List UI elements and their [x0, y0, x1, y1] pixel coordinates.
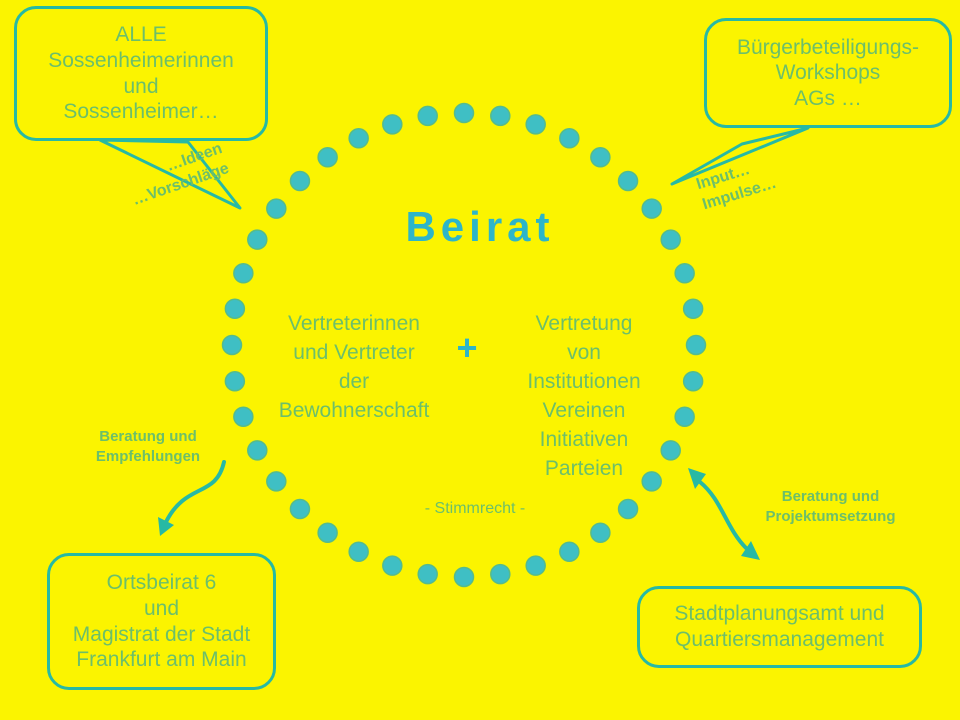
column-line: Vertreterinnen	[256, 310, 452, 339]
ring-dot	[383, 115, 402, 134]
box-ortsbeirat-text: Ortsbeirat 6 und Magistrat der Stadt Fra…	[63, 570, 260, 672]
ring-dot	[223, 336, 242, 355]
annotation-beratung-empfehlungen: Beratung und Empfehlungen	[78, 427, 218, 466]
ring-dot	[619, 500, 638, 519]
ring-dot	[560, 129, 579, 148]
bubble-line: und	[48, 74, 234, 100]
bubble-line: Workshops	[737, 60, 919, 86]
ring-dot	[267, 472, 286, 491]
box-line: Magistrat der Stadt	[73, 622, 250, 648]
column-line: Bewohnerschaft	[256, 397, 452, 426]
ring-dot	[234, 264, 253, 283]
annotation-line: Beratung und	[78, 427, 218, 447]
ring-dot	[225, 299, 244, 318]
plus-icon: +	[450, 330, 484, 366]
bubble-line: Sossenheimer…	[48, 99, 234, 125]
diagram-canvas: ALLE Sossenheimerinnen und Sossenheimer……	[0, 0, 960, 720]
bubble-line: AGs …	[737, 86, 919, 112]
ring-dot	[684, 299, 703, 318]
speech-bubble-buergerinnen: ALLE Sossenheimerinnen und Sossenheimer…	[14, 6, 268, 141]
arrowhead-right-up	[688, 468, 706, 489]
ring-dot	[526, 556, 545, 575]
ring-dot	[491, 106, 510, 125]
speech-bubble-buergerinnen-text: ALLE Sossenheimerinnen und Sossenheimer…	[38, 22, 244, 124]
ring-dot	[526, 115, 545, 134]
ring-dot	[455, 104, 474, 123]
ring-dot	[349, 542, 368, 561]
box-line: Quartiersmanagement	[674, 627, 884, 653]
ring-dot	[290, 500, 309, 519]
bubble-line: Bürgerbeteiligungs-	[737, 35, 919, 61]
ring-dot	[225, 372, 244, 391]
bubble-line: ALLE	[48, 22, 234, 48]
box-stadtplanungsamt-quartiersmanagement: Stadtplanungsamt und Quartiersmanagement	[637, 586, 922, 668]
ring-dot	[591, 523, 610, 542]
ring-dot	[318, 148, 337, 167]
annotation-beratung-projektumsetzung: Beratung und Projektumsetzung	[748, 487, 913, 526]
arrow-beratung-empfehlungen	[166, 462, 224, 522]
bubble-line: Sossenheimerinnen	[48, 48, 234, 74]
box-line: und	[73, 596, 250, 622]
annotation-line: Projektumsetzung	[748, 507, 913, 527]
members-column-institutions: Vertretung von Institutionen Vereinen In…	[486, 310, 682, 484]
ring-dot	[675, 264, 694, 283]
ring-dot	[248, 441, 267, 460]
ring-dot	[318, 523, 337, 542]
column-line: Vereinen	[486, 397, 682, 426]
column-line: Vertretung	[486, 310, 682, 339]
ring-dot	[591, 148, 610, 167]
ring-dot	[491, 565, 510, 584]
box-line: Ortsbeirat 6	[73, 570, 250, 596]
arrowhead-left-down	[158, 517, 174, 536]
ring-dot	[560, 542, 579, 561]
column-line: von	[486, 339, 682, 368]
annotation-ideen-vorschlaege: …Ideen …Vorschläge	[123, 139, 232, 211]
ring-dot	[687, 336, 706, 355]
ring-dot	[684, 372, 703, 391]
ring-dot	[455, 568, 474, 587]
box-line: Frankfurt am Main	[73, 647, 250, 673]
box-line: Stadtplanungsamt und	[674, 601, 884, 627]
column-line: Initiativen	[486, 426, 682, 455]
annotation-line: Empfehlungen	[78, 447, 218, 467]
box-stadtplanung-text: Stadtplanungsamt und Quartiersmanagement	[664, 601, 894, 652]
ring-dot	[383, 556, 402, 575]
ring-dot	[418, 106, 437, 125]
voting-right-note: - Stimmrecht -	[350, 500, 600, 518]
column-line: Parteien	[486, 455, 682, 484]
column-line: und Vertreter	[256, 339, 452, 368]
ring-dot	[418, 565, 437, 584]
members-column-residents: Vertreterinnen und Vertreter der Bewohne…	[256, 310, 452, 426]
arrowhead-right-down	[741, 541, 760, 560]
annotation-line: Beratung und	[748, 487, 913, 507]
speech-bubble-workshops-text: Bürgerbeteiligungs- Workshops AGs …	[727, 35, 929, 112]
speech-bubble-workshops: Bürgerbeteiligungs- Workshops AGs …	[704, 18, 952, 128]
ring-dot	[349, 129, 368, 148]
ring-dot	[290, 171, 309, 190]
column-line: der	[256, 368, 452, 397]
box-ortsbeirat-magistrat: Ortsbeirat 6 und Magistrat der Stadt Fra…	[47, 553, 276, 690]
diagram-title: Beirat	[0, 203, 960, 251]
ring-dot	[619, 171, 638, 190]
arrow-beratung-projektumsetzung	[700, 482, 746, 548]
column-line: Institutionen	[486, 368, 682, 397]
ring-dot	[234, 407, 253, 426]
